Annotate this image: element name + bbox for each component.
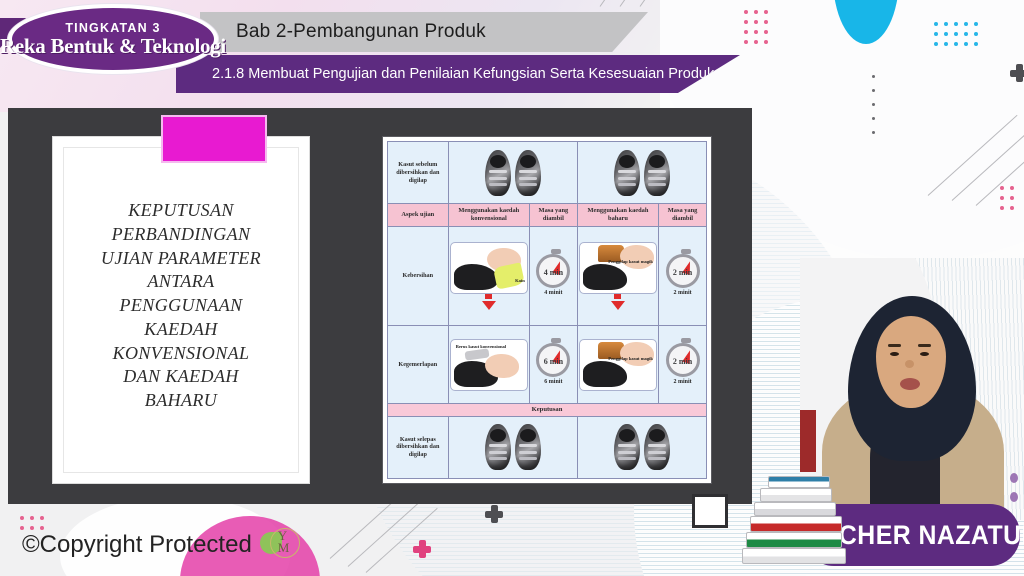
column-header-conventional-time: Masa yang diambil xyxy=(529,204,577,227)
conventional-photo-kebersihan: Kain xyxy=(448,226,529,325)
table-row-after: Kasut selepas dibersihkan dan digilap xyxy=(388,416,707,478)
before-row-label: Kasut sebelum dibersihkan dan digilap xyxy=(388,142,449,204)
stopwatch-icon: 6 min xyxy=(536,343,570,377)
slide-content: KEPUTUSAN PERBANDINGAN UJIAN PARAMETER A… xyxy=(52,136,712,484)
new-time-kebersihan: 2 min 2 minit xyxy=(659,226,707,325)
presenter-eye-left xyxy=(890,352,899,356)
copyright-notice: ©Copyright Protected YM xyxy=(22,528,300,562)
photo-conventional-brush: Berus kasut konvensional xyxy=(450,339,528,391)
after-shoes-new xyxy=(577,416,706,478)
photo-cloth-wipe: Kain xyxy=(450,242,528,294)
dot-grid-pink-right xyxy=(1000,186,1014,210)
lesson-title-band: 2.1.8 Membuat Pengujian dan Penilaian Ke… xyxy=(176,55,740,93)
comparison-table: Kasut sebelum dibersihkan dan digilap As… xyxy=(387,141,707,479)
photo-caption: Kain xyxy=(515,278,525,284)
conventional-photo-kegemerlapan: Berus kasut konvensional xyxy=(448,326,529,404)
conventional-time-kebersihan: 4 min 4 minit xyxy=(529,226,577,325)
slide-heading-line: DAN KAEDAH xyxy=(53,365,309,389)
book-item xyxy=(746,532,842,548)
table-row: Kebersihan Kain 4 min xyxy=(388,226,707,325)
dot-grid-blue-top xyxy=(934,22,978,46)
stopwatch-value: 4 min xyxy=(539,268,567,278)
photo-caption: Penggilap kasut magik xyxy=(608,356,653,361)
chapter-title: Bab 2-Pembangunan Produk xyxy=(236,21,486,43)
column-header-conventional: Menggunakan kaedah konvensional xyxy=(448,204,529,227)
table-row: Kegemerlapan Berus kasut konvensional 6 … xyxy=(388,326,707,404)
time-label: 4 minit xyxy=(530,290,577,298)
slide-heading-line: PENGGUNAAN xyxy=(53,294,309,318)
down-arrow-icon xyxy=(485,294,492,299)
left-slide-card: KEPUTUSAN PERBANDINGAN UJIAN PARAMETER A… xyxy=(52,136,310,484)
photo-magic-polish: Penggilap kasut magik xyxy=(579,242,657,294)
lesson-title: 2.1.8 Membuat Pengujian dan Penilaian Ke… xyxy=(212,66,767,82)
column-header-aspect: Aspek ujian xyxy=(388,204,449,227)
new-photo-kebersihan: Penggilap kasut magik xyxy=(577,226,658,325)
stopwatch-value: 2 min xyxy=(669,268,697,278)
stopwatch-icon: 4 min xyxy=(536,254,570,288)
logo-title: Reka Bentuk & Teknologi xyxy=(0,35,226,57)
new-time-kegemerlapan: 2 min 2 minit xyxy=(659,326,707,404)
dot-grid-pink-top xyxy=(744,10,768,44)
publisher-logo-icon: YM xyxy=(260,528,300,562)
presenter-eyebrow-left xyxy=(888,344,901,347)
plus-icon-pink xyxy=(413,540,431,558)
slide-heading-line: KAEDAH xyxy=(53,318,309,342)
photo-caption: Berus kasut konvensional xyxy=(456,344,506,349)
slide-heading-line: KEPUTUSAN xyxy=(53,199,309,223)
book-item xyxy=(768,476,830,488)
book-item xyxy=(750,516,842,532)
shoe-pair-icon xyxy=(578,150,706,196)
shoe-pair-icon xyxy=(449,424,577,470)
conventional-time-kegemerlapan: 6 min 6 minit xyxy=(529,326,577,404)
photo-caption: Penggilap kasut magik xyxy=(608,259,653,264)
shoe-pair-icon xyxy=(578,424,706,470)
before-shoes-new xyxy=(577,142,706,204)
table-header-row: Aspek ujian Menggunakan kaedah konvensio… xyxy=(388,204,707,227)
vertical-dot-column xyxy=(872,75,875,134)
aspect-kebersihan: Kebersihan xyxy=(388,226,449,325)
presenter-eyebrow-right xyxy=(918,344,931,347)
table-row-before: Kasut sebelum dibersihkan dan digilap xyxy=(388,142,707,204)
column-header-new: Menggunakan kaedah baharu xyxy=(577,204,658,227)
time-label: 6 minit xyxy=(530,379,577,387)
time-label: 2 minit xyxy=(659,379,706,387)
presenter-nose xyxy=(905,360,914,368)
slide-heading-line: KONVENSIONAL xyxy=(53,342,309,366)
result-band-label: Keputusan xyxy=(388,404,707,416)
after-row-label: Kasut selepas dibersihkan dan digilap xyxy=(388,416,449,478)
plus-icon-gray xyxy=(1010,64,1024,82)
chapter-title-band: Bab 2-Pembangunan Produk xyxy=(200,12,648,52)
aspect-kegemerlapan: Kegemerlapan xyxy=(388,326,449,404)
magenta-accent-box xyxy=(161,115,267,163)
presenter-red-edge xyxy=(800,410,816,472)
slide-heading-line: BAHARU xyxy=(53,389,309,413)
book-item xyxy=(742,548,846,564)
down-arrow-icon xyxy=(482,301,496,310)
book-item xyxy=(760,488,832,502)
background-monitor-frame xyxy=(692,494,728,528)
new-photo-kegemerlapan: Penggilap kasut magik xyxy=(577,326,658,404)
photo-magic-polish: Penggilap kasut magik xyxy=(579,339,657,391)
stopwatch-icon: 2 min xyxy=(666,343,700,377)
slide-heading: KEPUTUSAN PERBANDINGAN UJIAN PARAMETER A… xyxy=(53,199,309,413)
presenter-mouth xyxy=(900,378,920,390)
stopwatch-value: 6 min xyxy=(539,357,567,367)
down-arrow-icon xyxy=(611,301,625,310)
copyright-text: ©Copyright Protected xyxy=(22,531,252,559)
book-stack-graphic xyxy=(734,476,848,568)
slide-heading-line: PERBANDINGAN xyxy=(53,223,309,247)
comparison-table-card: Kasut sebelum dibersihkan dan digilap As… xyxy=(382,136,712,484)
book-item xyxy=(754,502,836,516)
slide-heading-line: ANTARA xyxy=(53,270,309,294)
slide-frame: KEPUTUSAN PERBANDINGAN UJIAN PARAMETER A… xyxy=(8,108,752,504)
logo-subtitle: TINGKATAN 3 xyxy=(65,21,160,35)
slide-heading-line: UJIAN PARAMETER xyxy=(53,247,309,271)
shoe-pair-icon xyxy=(449,150,577,196)
after-shoes-conventional xyxy=(448,416,577,478)
stopwatch-value: 2 min xyxy=(669,357,697,367)
time-label: 2 minit xyxy=(659,290,706,298)
course-logo-badge: TINGKATAN 3 Reka Bentuk & Teknologi xyxy=(8,4,218,74)
stopwatch-icon: 2 min xyxy=(666,254,700,288)
table-result-band-row: Keputusan xyxy=(388,404,707,416)
before-shoes-conventional xyxy=(448,142,577,204)
down-arrow-icon xyxy=(614,294,621,299)
presenter-eye-right xyxy=(920,352,929,356)
plus-icon-gray xyxy=(485,505,503,523)
column-header-new-time: Masa yang diambil xyxy=(659,204,707,227)
